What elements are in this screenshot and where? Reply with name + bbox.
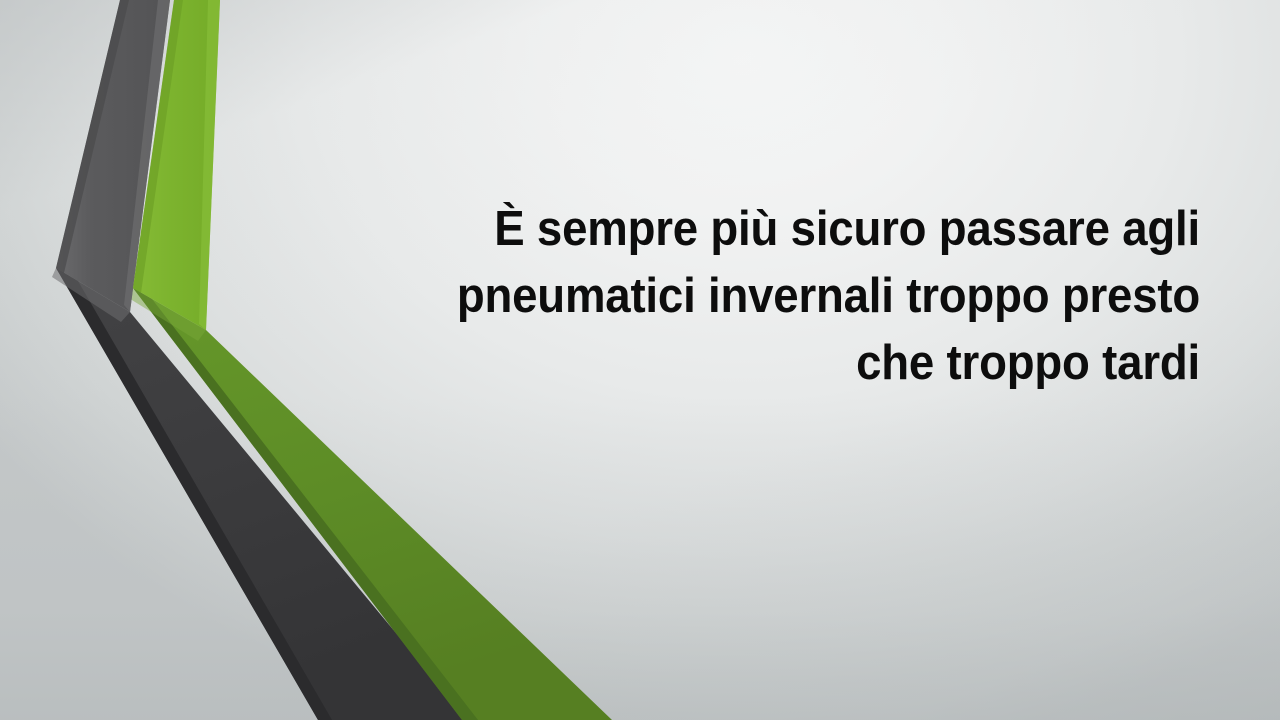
presentation-slide: È sempre più sicuro passare agli pneumat… bbox=[0, 0, 1280, 720]
title-line-3: che troppo tardi bbox=[363, 330, 1200, 397]
slide-title: È sempre più sicuro passare agli pneumat… bbox=[300, 196, 1200, 397]
title-line-1: È sempre più sicuro passare agli bbox=[363, 196, 1200, 263]
title-line-2: pneumatici invernali troppo presto bbox=[363, 263, 1200, 330]
